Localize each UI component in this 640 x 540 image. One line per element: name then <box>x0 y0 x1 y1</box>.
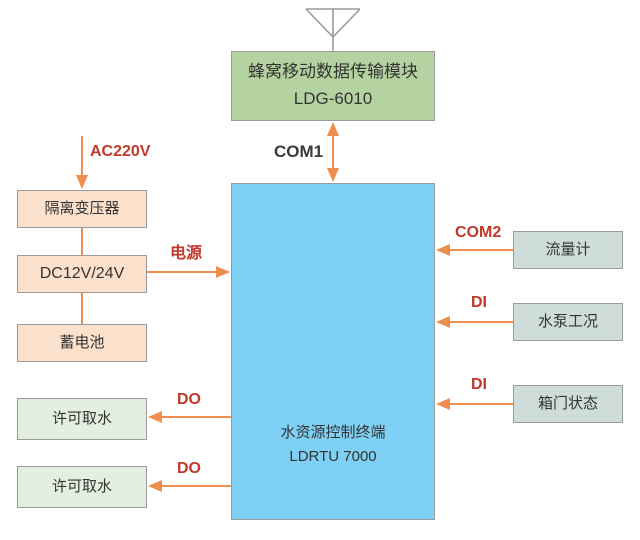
node-pump-operating-status-label: 水泵工况 <box>538 312 598 332</box>
edge-label-com2: COM2 <box>455 224 501 242</box>
node-permitted-water-intake-1-label: 许可取水 <box>52 409 112 429</box>
node-water-resource-control-terminal: 水资源控制终端 LDRTU 7000 <box>231 183 435 520</box>
node-cabinet-door-status-label: 箱门状态 <box>538 394 598 414</box>
edge-label-di-1: DI <box>471 294 487 312</box>
edge-label-do-2: DO <box>177 460 201 478</box>
node-storage-battery: 蓄电池 <box>17 324 147 362</box>
node-rtu-line2: LDRTU 7000 <box>289 447 376 467</box>
node-rtu-line1: 水资源控制终端 <box>280 423 385 443</box>
node-cellular-module-line1: 蜂窝移动数据传输模块 <box>248 61 418 84</box>
antenna-icon <box>306 9 360 51</box>
system-block-diagram: 蜂窝移动数据传输模块 LDG-6010 水资源控制终端 LDRTU 7000 隔… <box>0 0 640 540</box>
node-flow-meter-label: 流量计 <box>545 240 590 260</box>
node-permitted-water-intake-2-label: 许可取水 <box>52 477 112 497</box>
node-permitted-water-intake-1: 许可取水 <box>17 398 147 440</box>
edge-label-di-2: DI <box>471 376 487 394</box>
edge-label-com1: COM1 <box>274 142 323 162</box>
node-cellular-module: 蜂窝移动数据传输模块 LDG-6010 <box>231 51 435 121</box>
edge-label-power: 电源 <box>170 239 202 263</box>
node-permitted-water-intake-2: 许可取水 <box>17 466 147 508</box>
node-pump-operating-status: 水泵工况 <box>513 303 623 341</box>
node-dc-power-supply: DC12V/24V <box>17 255 147 293</box>
node-storage-battery-label: 蓄电池 <box>59 333 104 353</box>
node-cellular-module-line2: LDG-6010 <box>294 88 372 111</box>
node-isolation-transformer: 隔离变压器 <box>17 190 147 228</box>
node-dc-power-supply-label: DC12V/24V <box>40 263 125 285</box>
node-isolation-transformer-label: 隔离变压器 <box>44 199 119 219</box>
edge-label-do-1: DO <box>177 391 201 409</box>
node-cabinet-door-status: 箱门状态 <box>513 385 623 423</box>
edge-label-ac220v: AC220V <box>90 143 150 161</box>
node-flow-meter: 流量计 <box>513 231 623 269</box>
